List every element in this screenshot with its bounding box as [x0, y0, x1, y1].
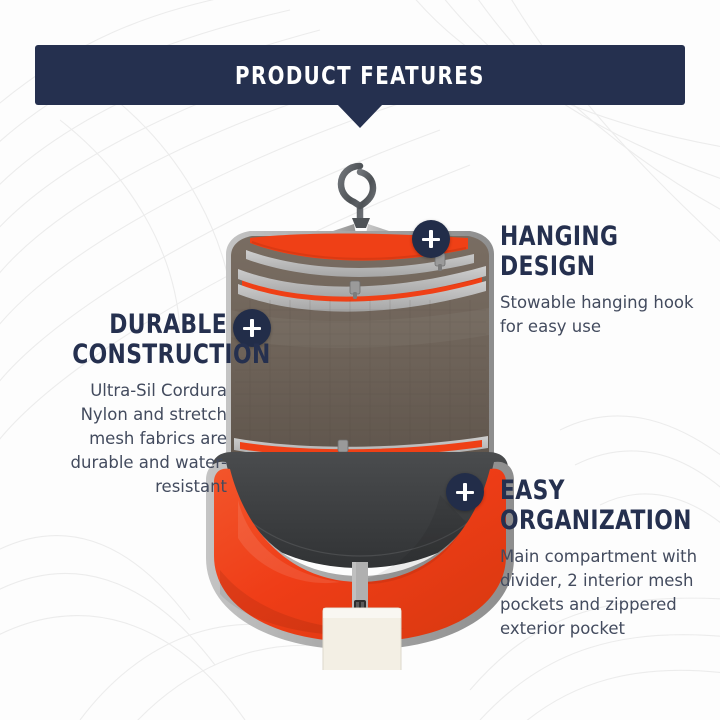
feature-title-durable-construction: DURABLE CONSTRUCTION — [72, 310, 227, 370]
feature-body-easy-organization: Main compartment with divider, 2 interio… — [500, 545, 708, 641]
feature-block-hanging-design: HANGING DESIGN Stowable hanging hook for… — [500, 222, 705, 339]
feature-block-durable-construction: DURABLE CONSTRUCTION Ultra-Sil Cordura N… — [55, 310, 227, 499]
plus-icon-easy-organization[interactable] — [446, 473, 484, 511]
feature-body-hanging-design: Stowable hanging hook for easy use — [500, 291, 705, 339]
header-banner: PRODUCT FEATURES — [35, 45, 685, 105]
product-image-hanging-toiletry-bag — [190, 150, 530, 670]
feature-body-durable-construction: Ultra-Sil Cordura Nylon and stretch mesh… — [55, 379, 227, 499]
hanging-hook-icon — [341, 166, 373, 228]
feature-title-easy-organization: EASY ORGANIZATION — [500, 476, 687, 536]
banner-pointer-triangle — [337, 104, 383, 128]
infographic-canvas: PRODUCT FEATURES — [0, 0, 720, 720]
plus-icon-hanging-design[interactable] — [412, 220, 450, 258]
zipper-pull-bottom — [338, 440, 348, 452]
feature-block-easy-organization: EASY ORGANIZATION Main compartment with … — [500, 476, 708, 641]
feature-title-hanging-design: HANGING DESIGN — [500, 222, 685, 282]
page-title: PRODUCT FEATURES — [235, 61, 485, 90]
